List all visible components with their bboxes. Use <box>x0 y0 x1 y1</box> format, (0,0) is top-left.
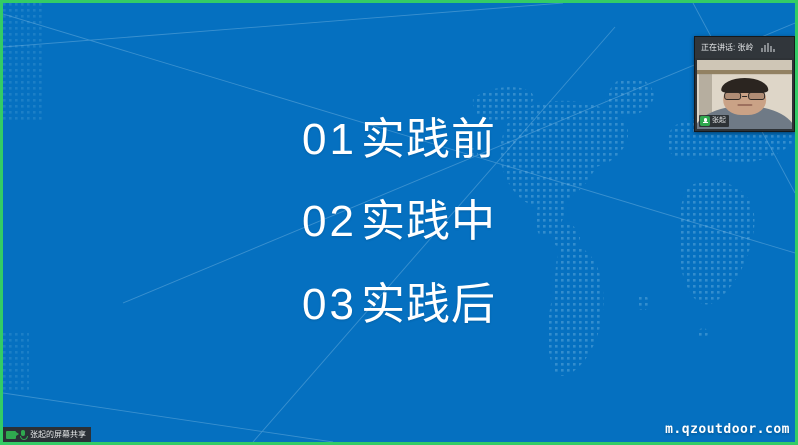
screen-share-stage: 01实践前 02实践中 03实践后 正在讲话: 张岭 <box>0 0 798 445</box>
presenter-hair <box>721 78 769 93</box>
screen-share-status-bar[interactable]: 张起的屏幕共享 <box>3 427 91 442</box>
slide-line-2-text: 实践中 <box>361 197 496 246</box>
slide-line-1-text: 实践前 <box>361 115 496 164</box>
presenter-video-header: 正在讲话: 张岭 <box>695 37 794 58</box>
screen-share-status-text: 张起的屏幕共享 <box>30 427 86 442</box>
presenter-mouth <box>737 104 752 106</box>
slide-line-2-number: 02 <box>302 197 357 246</box>
participant-nameplate: 张起 <box>699 115 729 127</box>
presenter-video-feed[interactable]: 张起 <box>697 60 792 129</box>
slide-line-1: 01实践前 <box>302 117 496 163</box>
microphone-icon <box>19 430 27 440</box>
shared-slide: 01实践前 02实践中 03实践后 <box>3 3 795 442</box>
slide-agenda-list: 01实践前 02实践中 03实践后 <box>3 3 795 442</box>
slide-line-3-text: 实践后 <box>361 280 496 329</box>
participant-name: 张起 <box>712 115 726 127</box>
presenter-video-tile[interactable]: 正在讲话: 张岭 张起 <box>694 36 795 132</box>
slide-line-3-number: 03 <box>302 280 357 329</box>
camera-icon <box>6 431 16 439</box>
audio-waveform-icon <box>761 43 775 52</box>
slide-line-1-number: 01 <box>302 115 357 164</box>
microphone-icon <box>700 116 710 126</box>
slide-line-2: 02实践中 <box>302 199 496 245</box>
active-speaker-label: 正在讲话: 张岭 <box>701 37 753 58</box>
site-watermark: m.qzoutdoor.com <box>665 422 790 437</box>
slide-line-3: 03实践后 <box>302 282 496 328</box>
presenter-glasses <box>724 92 766 100</box>
